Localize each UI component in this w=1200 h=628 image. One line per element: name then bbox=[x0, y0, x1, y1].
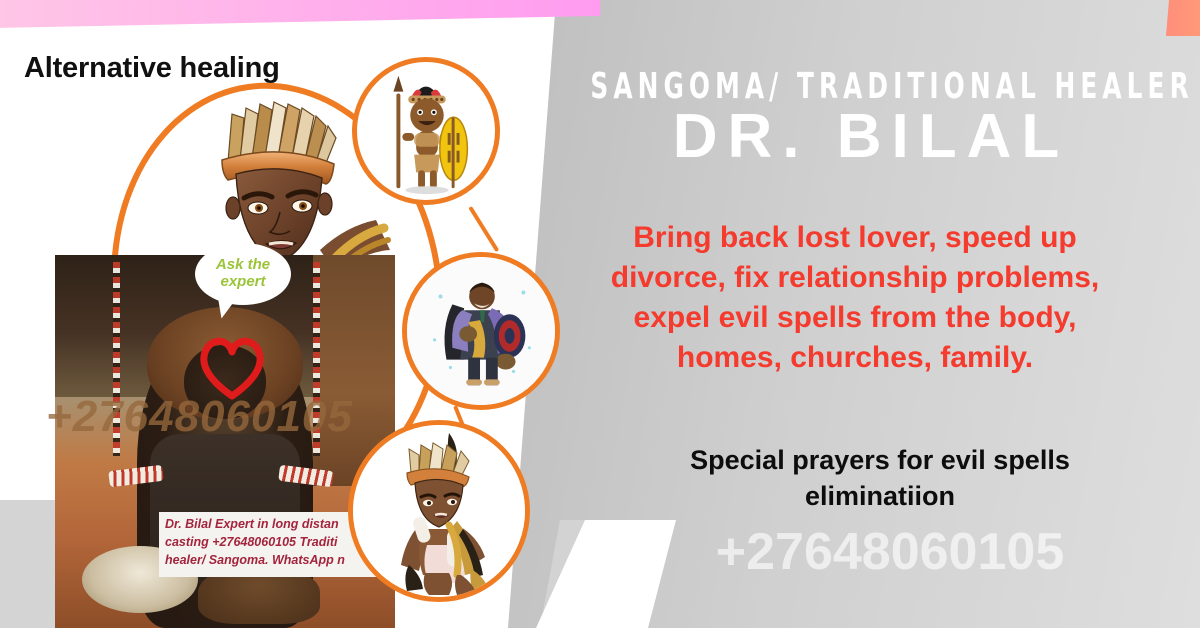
speech-bubble-label: Ask theexpert bbox=[216, 257, 270, 291]
circle-zulu-warrior-with-spear-and-shield bbox=[352, 57, 500, 205]
zulu-warrior-with-spear-and-shield-icon bbox=[357, 62, 495, 200]
speech-bubble: Ask theexpert bbox=[195, 243, 291, 305]
services-line-2: divorce, fix relationship problems, bbox=[545, 258, 1165, 298]
phone-watermark: +27648060105 bbox=[610, 522, 1170, 582]
traditional-healer-with-robe-and-shield-icon bbox=[407, 257, 555, 405]
orange-accent-bar bbox=[1166, 0, 1200, 36]
caption-line-3: healer/ Sangoma. WhatsApp n bbox=[165, 552, 385, 570]
circle-traditional-healer-with-robe-and-shield bbox=[402, 252, 560, 410]
services-line-1: Bring back lost lover, speed up bbox=[545, 218, 1165, 258]
services-line-3: expel evil spells from the body, bbox=[545, 298, 1165, 338]
services-line-4: homes, churches, family. bbox=[545, 338, 1165, 378]
headline-alternative-healing: Alternative healing bbox=[24, 52, 280, 85]
photo-phone-overlay: +27648060105 bbox=[46, 392, 426, 442]
circle-crouching-zulu-warrior bbox=[348, 420, 530, 602]
crouching-zulu-warrior-icon bbox=[353, 425, 525, 597]
poster-canvas: Alternative healing bbox=[0, 0, 1200, 628]
services-text: Bring back lost lover, speed up divorce,… bbox=[545, 218, 1165, 378]
special-line-1: Special prayers for evil spells bbox=[600, 443, 1160, 479]
page-title-dr-bilal: DR. BILAL bbox=[566, 104, 1176, 169]
special-line-2: eliminatiion bbox=[600, 479, 1160, 515]
special-prayers-text: Special prayers for evil spells eliminat… bbox=[600, 443, 1160, 515]
heart-icon bbox=[196, 334, 268, 400]
